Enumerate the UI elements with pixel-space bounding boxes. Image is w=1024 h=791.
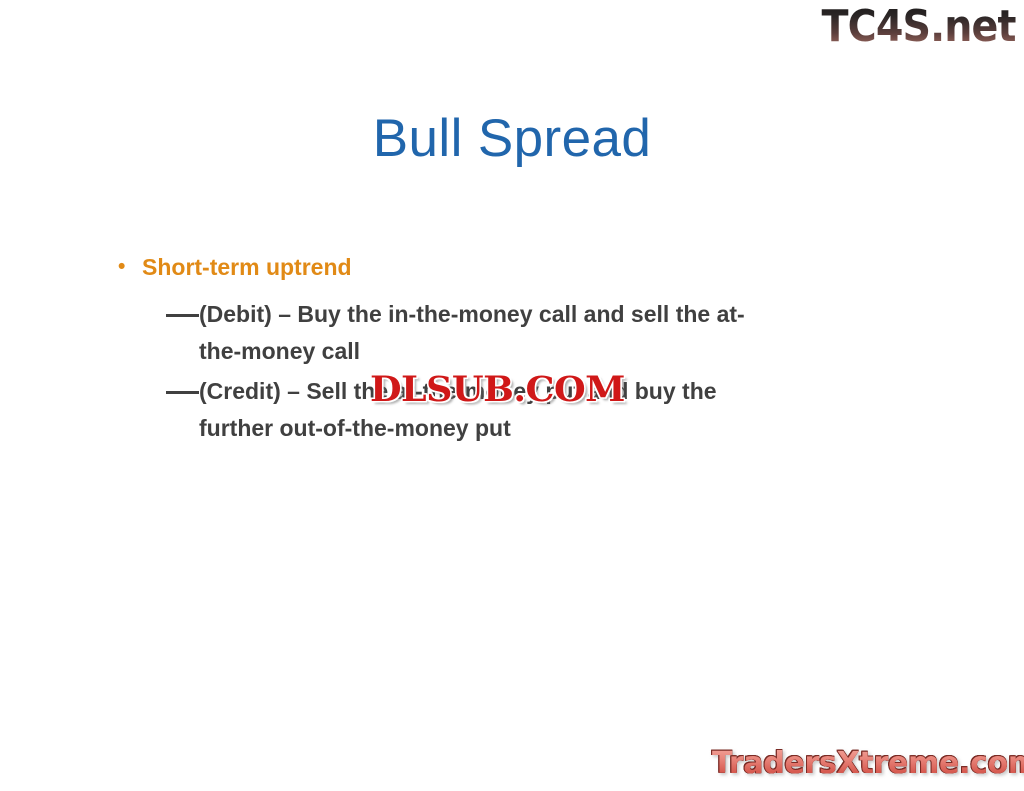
bullet-item-debit: (Debit) – Buy the in-the-money call and … bbox=[166, 296, 908, 370]
tc4s-logo: TC4S.net bbox=[822, 2, 1016, 52]
page-title: Bull Spread bbox=[0, 108, 1024, 170]
bullet-item-primary: • Short-term uptrend bbox=[118, 252, 908, 282]
em-dash-icon bbox=[166, 373, 199, 410]
bullet-item-primary-label: Short-term uptrend bbox=[142, 252, 352, 282]
em-dash-icon bbox=[166, 296, 199, 333]
bullet-dot-icon: • bbox=[118, 252, 142, 282]
slide-body: • Short-term uptrend (Debit) – Buy the i… bbox=[118, 252, 908, 450]
tradersxtreme-watermark: TradersXtreme.com bbox=[712, 745, 1024, 783]
bullet-item-debit-label: (Debit) – Buy the in-the-money call and … bbox=[199, 296, 774, 370]
presentation-slide: TC4S.net Bull Spread • Short-term uptren… bbox=[0, 0, 1024, 791]
dlsub-watermark: DLSUB.COM bbox=[370, 369, 625, 411]
